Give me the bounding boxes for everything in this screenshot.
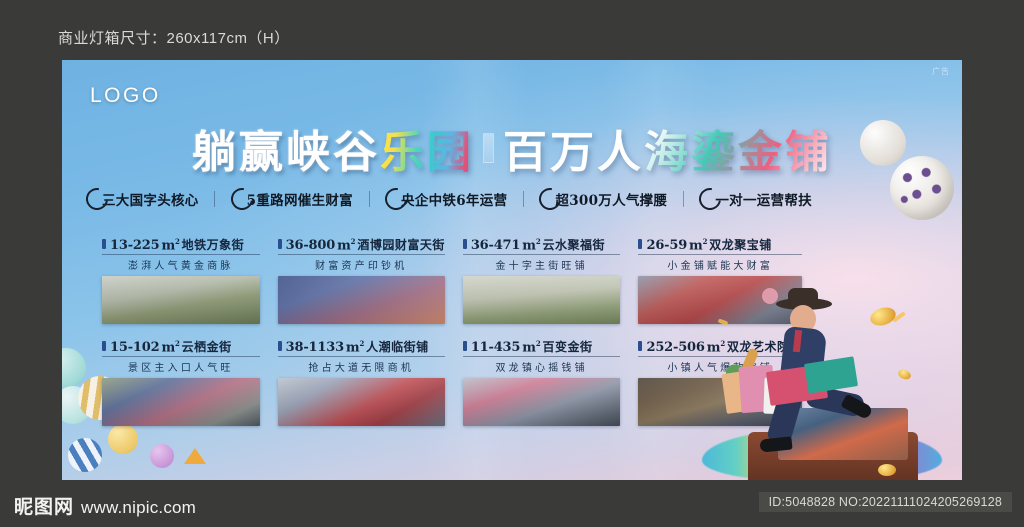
- listing-title: 38-1133m2人潮临街铺: [278, 338, 445, 357]
- listing-subtitle: 抢占大道无限商机: [278, 359, 445, 374]
- listing-area-unit: m2: [346, 339, 364, 355]
- listing-area: 38-1133: [286, 340, 344, 355]
- listing-area-unit: m2: [689, 237, 707, 253]
- bullet-mark-icon: [638, 341, 642, 351]
- confetti-icon: [892, 311, 906, 322]
- listing-area-unit: m2: [707, 339, 725, 355]
- size-caption: 商业灯箱尺寸：260x117cm（H）: [58, 27, 290, 48]
- brand-name-cn: 昵图网: [14, 492, 74, 519]
- listing-area: 252-506: [646, 340, 704, 355]
- bullet-mark-icon: [278, 341, 282, 351]
- listing-subtitle: 财富资产印钞机: [278, 257, 445, 272]
- listing-card: 13-225m2地铁万象街澎湃人气黄金商脉: [102, 236, 260, 324]
- listing-card: 26-59m2双龙聚宝铺小金铺赋能大财富: [638, 236, 802, 324]
- listing-title: 13-225m2地铁万象街: [102, 236, 260, 255]
- balloon-icon: [68, 438, 102, 472]
- listing-card: 252-506m2双龙艺术院落小镇人气爆款院铺: [638, 338, 802, 426]
- person-leg: [804, 384, 865, 418]
- listing-photo: [463, 276, 621, 324]
- asset-id-badge: ID:5048828 NO:20221111024205269128: [759, 492, 1012, 512]
- headline-part-2: 乐园: [380, 116, 474, 180]
- listing-title: 36-471m2云水聚福街: [463, 236, 621, 255]
- listing-name: 云栖金街: [182, 338, 232, 355]
- listing-area: 11-435: [471, 340, 520, 355]
- selling-point-label: 超300万人气撑腰: [555, 189, 667, 209]
- selling-points-row: 三大国字头核心 5重路网催生财富 央企中铁6年运营 超300万人气撑腰 一对一运…: [86, 188, 812, 210]
- listing-subtitle: 小金铺赋能大财富: [638, 257, 802, 272]
- headline-part-1: 躺赢峡谷: [192, 116, 380, 180]
- balloon-icon: [150, 444, 174, 468]
- ribbon-swirl-decoration: [702, 428, 942, 480]
- listing-title: 36-800m2酒博园财富天街: [278, 236, 445, 255]
- listing-subtitle: 双龙镇心摇钱铺: [463, 359, 621, 374]
- listing-area: 15-102: [110, 340, 159, 355]
- listing-name: 地铁万象街: [182, 236, 245, 253]
- selling-point-3: 央企中铁6年运营: [385, 188, 507, 210]
- listing-title: 11-435m2百变金街: [463, 338, 621, 357]
- listing-name: 酒博园财富天街: [357, 236, 445, 253]
- listing-photo: [278, 276, 445, 324]
- shopping-bag-icon: [804, 356, 858, 393]
- listing-name: 百变金街: [543, 338, 593, 355]
- balloon-icon: [62, 348, 86, 388]
- coin-icon: [897, 368, 912, 381]
- listing-area-unit: m2: [161, 237, 179, 253]
- screenshot-root: 商业灯箱尺寸：260x117cm（H） 广告 LOGO 躺赢峡谷乐园百万人海鎏金…: [0, 0, 1024, 527]
- selling-point-1: 三大国字头核心: [86, 188, 199, 210]
- listing-subtitle: 金十字主街旺铺: [463, 257, 621, 272]
- listing-photo: [102, 378, 260, 426]
- divider: [523, 191, 524, 207]
- listing-area: 26-59: [646, 238, 687, 253]
- listing-title: 15-102m2云栖金街: [102, 338, 260, 357]
- bullet-mark-icon: [102, 239, 106, 249]
- listing-card: 11-435m2百变金街双龙镇心摇钱铺: [463, 338, 621, 426]
- listing-title: 26-59m2双龙聚宝铺: [638, 236, 802, 255]
- selling-point-label: 三大国字头核心: [102, 189, 199, 209]
- listing-title: 252-506m2双龙艺术院落: [638, 338, 802, 357]
- listing-name: 云水聚福街: [543, 236, 606, 253]
- selling-point-label: 一对一运营帮扶: [715, 189, 812, 209]
- listing-name: 双龙聚宝铺: [709, 236, 772, 253]
- listing-card: 36-800m2酒博园财富天街财富资产印钞机: [278, 236, 445, 324]
- logo-placeholder: LOGO: [90, 84, 161, 108]
- listing-area: 36-800: [286, 238, 335, 253]
- divider: [683, 191, 684, 207]
- star-icon: [184, 448, 206, 464]
- seal-stamp-icon: [483, 133, 494, 163]
- listing-name: 人潮临街铺: [366, 338, 429, 355]
- listing-area-unit: m2: [522, 237, 540, 253]
- shoe-icon: [759, 436, 792, 452]
- balloon-icon: [108, 424, 138, 454]
- listing-photo: [463, 378, 621, 426]
- listing-area-unit: m2: [522, 339, 540, 355]
- selling-point-label: 5重路网催生财富: [247, 189, 353, 209]
- listing-area-unit: m2: [337, 237, 355, 253]
- coin-icon: [878, 464, 896, 476]
- advertisement-mark: 广告: [932, 66, 950, 77]
- brand-url: www.nipic.com: [81, 498, 196, 518]
- bullet-mark-icon: [278, 239, 282, 249]
- headline-part-3: 百万人海鎏金铺: [503, 116, 832, 180]
- selling-point-label: 央企中铁6年运营: [401, 189, 507, 209]
- listing-area-unit: m2: [161, 339, 179, 355]
- listing-photo: [278, 378, 445, 426]
- poster-artwork: 广告 LOGO 躺赢峡谷乐园百万人海鎏金铺 三大国字头核心: [62, 60, 962, 480]
- selling-point-2: 5重路网催生财富: [231, 188, 353, 210]
- poster-headline: 躺赢峡谷乐园百万人海鎏金铺: [62, 116, 962, 180]
- divider: [369, 191, 370, 207]
- listing-photo: [638, 276, 802, 324]
- listing-subtitle: 澎湃人气黄金商脉: [102, 257, 260, 272]
- coin-icon: [868, 304, 898, 328]
- listing-card: 38-1133m2人潮临街铺抢占大道无限商机: [278, 338, 445, 426]
- selling-point-4: 超300万人气撑腰: [539, 188, 667, 210]
- listing-name: 双龙艺术院落: [727, 338, 802, 355]
- listing-photo: [102, 276, 260, 324]
- shoe-icon: [840, 394, 873, 420]
- listing-card: 15-102m2云栖金街景区主入口人气旺: [102, 338, 260, 426]
- listing-subtitle: 小镇人气爆款院铺: [638, 359, 802, 374]
- bullet-mark-icon: [463, 341, 467, 351]
- listing-card: 36-471m2云水聚福街金十字主街旺铺: [463, 236, 621, 324]
- bullet-mark-icon: [463, 239, 467, 249]
- listing-photo: [638, 378, 802, 426]
- listing-subtitle: 景区主入口人气旺: [102, 359, 260, 374]
- listing-grid: 13-225m2地铁万象街澎湃人气黄金商脉36-800m2酒博园财富天街财富资产…: [102, 236, 802, 426]
- footer-bar: 昵图网 www.nipic.com ID:5048828 NO:20221111…: [0, 480, 1024, 527]
- selling-point-5: 一对一运营帮扶: [699, 188, 812, 210]
- bullet-mark-icon: [102, 341, 106, 351]
- listing-area: 36-471: [471, 238, 520, 253]
- suitcase-icon: [748, 432, 918, 480]
- bullet-mark-icon: [638, 239, 642, 249]
- divider: [214, 191, 215, 207]
- listing-area: 13-225: [110, 238, 159, 253]
- site-brand[interactable]: 昵图网 www.nipic.com: [14, 492, 196, 519]
